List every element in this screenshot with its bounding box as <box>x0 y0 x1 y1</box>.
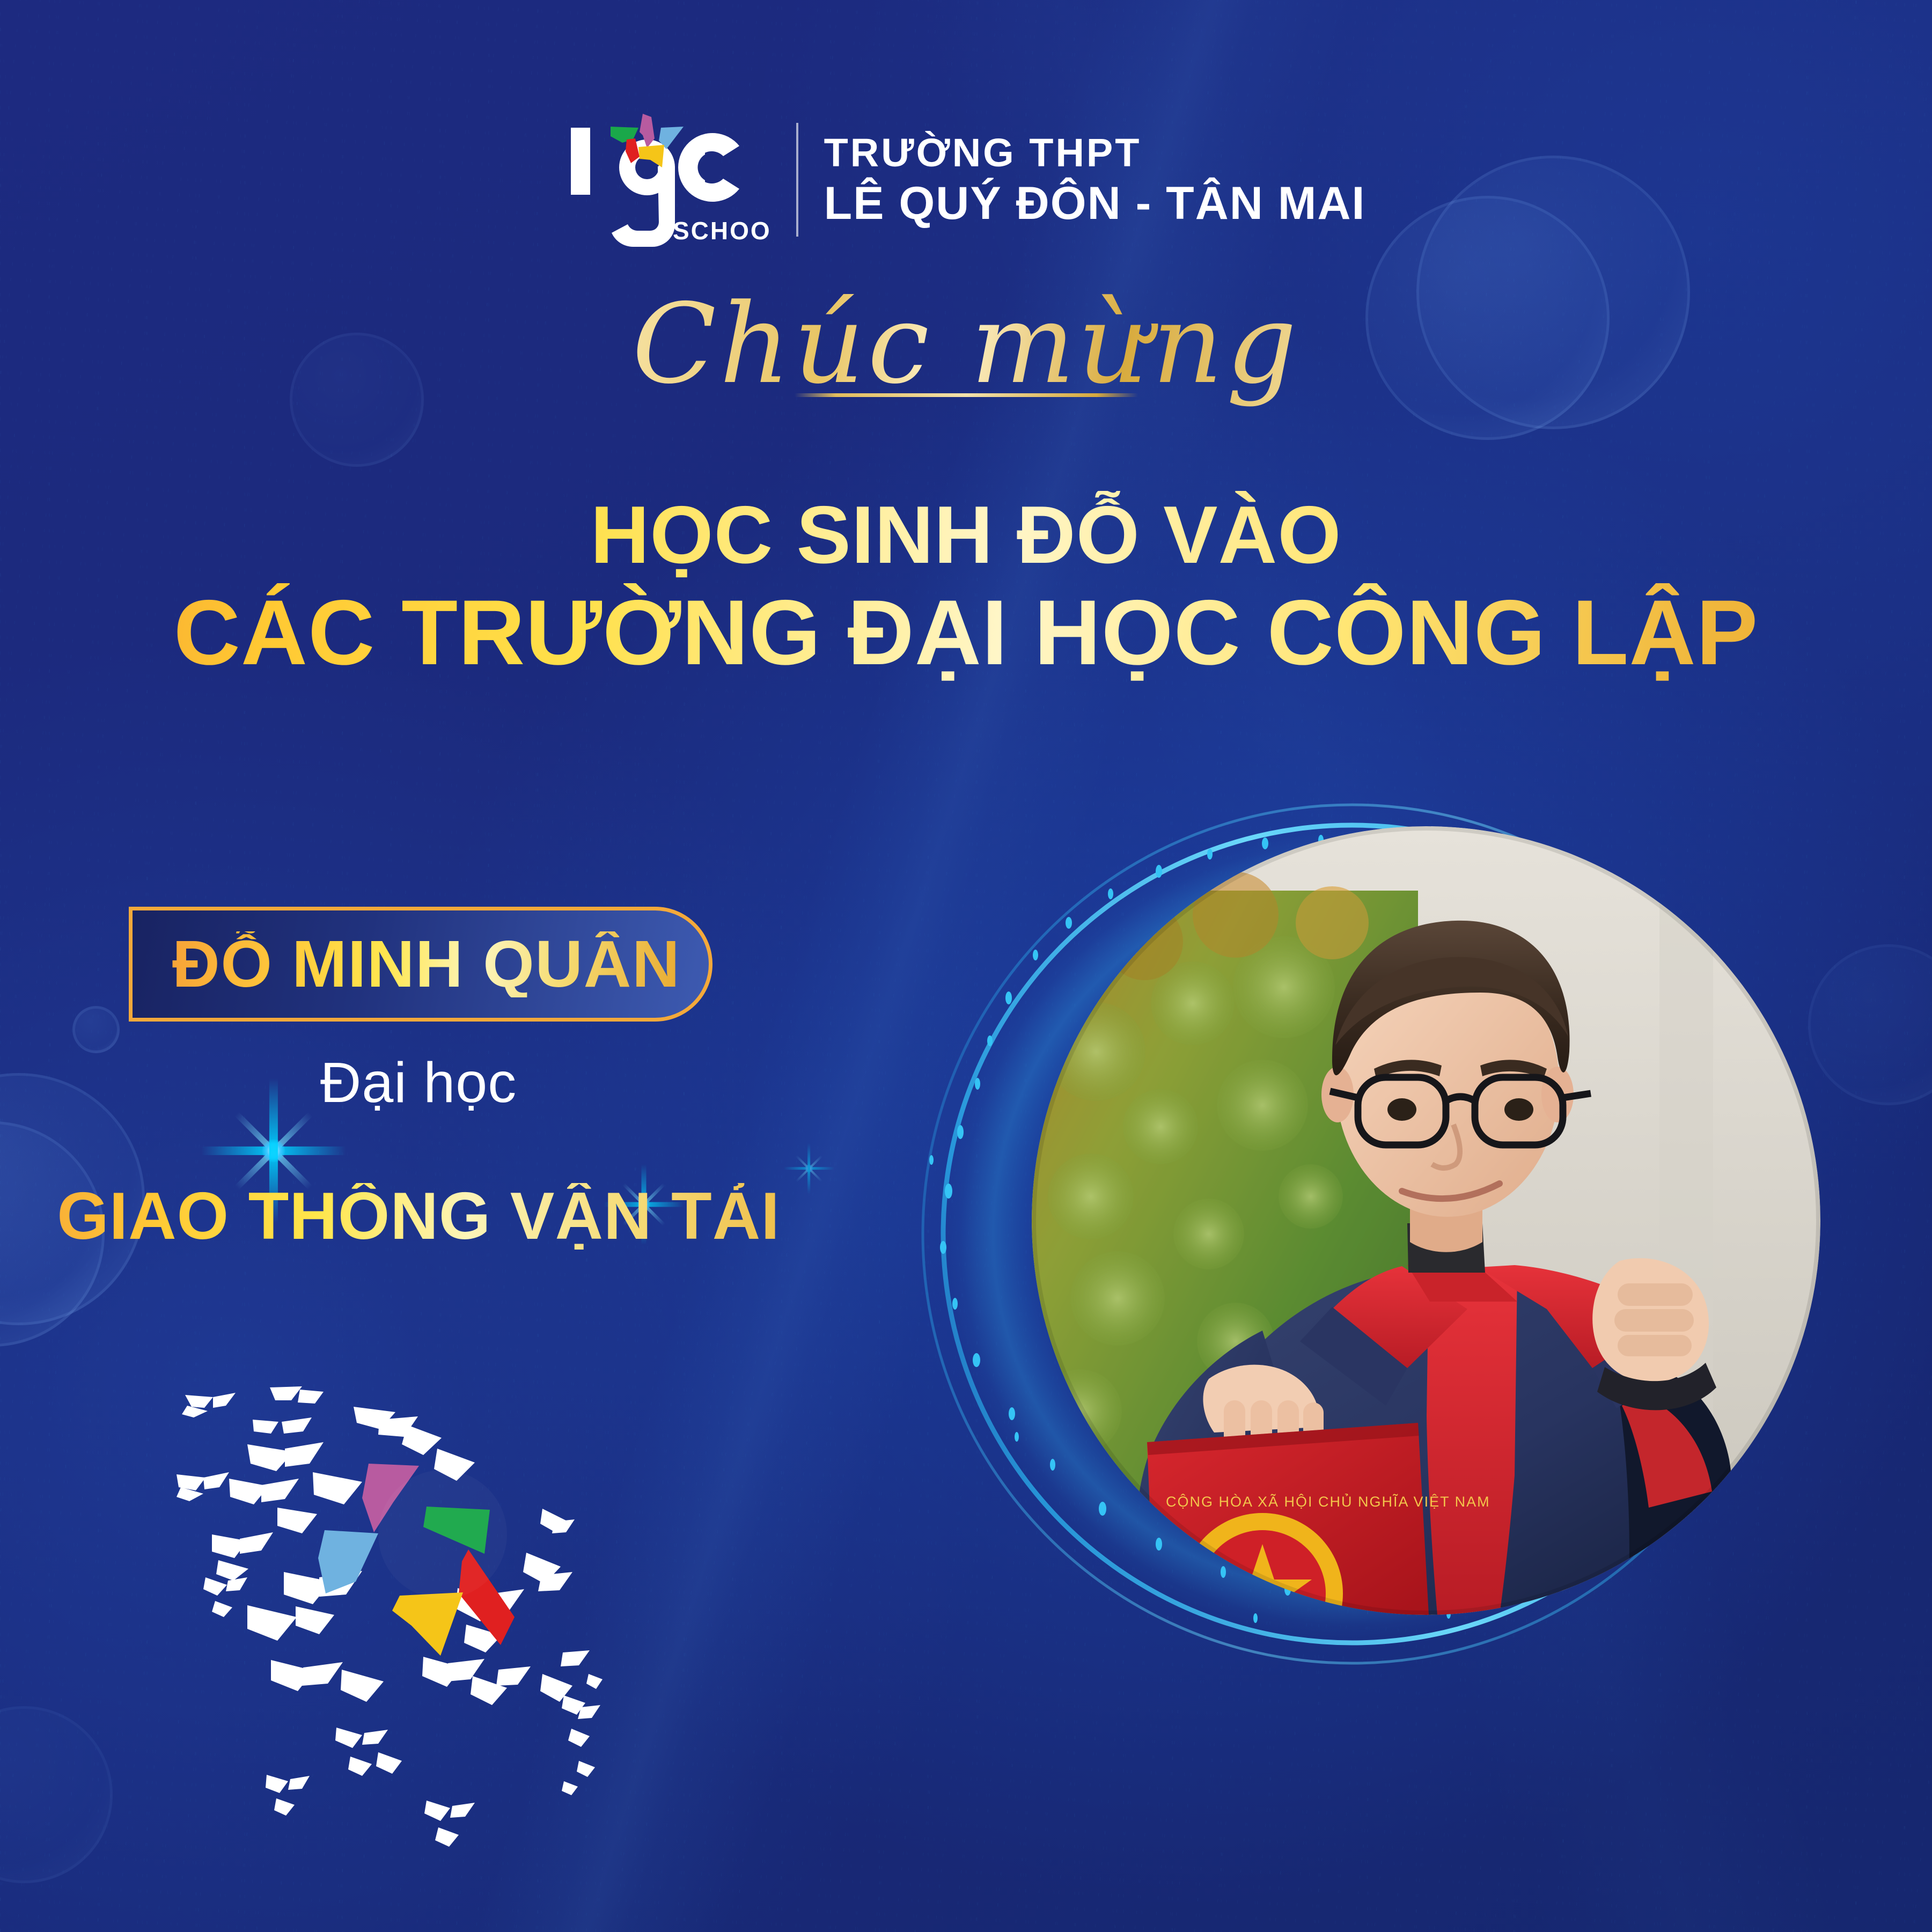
university-level: Đại học <box>0 1054 837 1111</box>
university-name: GIAO THÔNG VẬN TẢI <box>0 1183 837 1250</box>
student-photo: CỘNG HÒA XÃ HỘI CHỦ NGHĨA VIỆT NAM <box>1032 826 1820 1615</box>
student-name: ĐỖ MINH QUÂN <box>172 931 680 997</box>
globe-star-green <box>423 1507 490 1554</box>
script-greeting-block: Chúc mừng <box>0 290 1932 397</box>
igc-logo-icon: SCHOOL <box>567 113 770 247</box>
star-globe-decoration <box>142 1373 647 1883</box>
script-greeting-text: Chúc mừng <box>616 290 1316 418</box>
globe-star-red <box>459 1549 515 1645</box>
svg-text:SCHOOL: SCHOOL <box>673 217 770 245</box>
student-name-badge: ĐỖ MINH QUÂN <box>129 907 712 1022</box>
svg-text:CỘNG HÒA XÃ HỘI CHỦ NGHĨA VIỆT: CỘNG HÒA XÃ HỘI CHỦ NGHĨA VIỆT NAM <box>1166 1493 1490 1510</box>
header-divider <box>796 123 798 237</box>
student-photo-illustration: CỘNG HÒA XÃ HỘI CHỦ NGHĨA VIỆT NAM <box>1032 826 1820 1615</box>
bokeh-circle-bottom-left <box>0 1706 113 1883</box>
headline-line1: HỌC SINH ĐỖ VÀO <box>0 491 1932 579</box>
globe-star-yellow <box>392 1592 463 1656</box>
poster-header: SCHOOL TRƯỜNG THPT LÊ QUÝ ĐÔN - TÂN MAI <box>0 113 1932 247</box>
school-name-line1: TRƯỜNG THPT <box>824 133 1366 173</box>
school-name-block: TRƯỜNG THPT LÊ QUÝ ĐÔN - TÂN MAI <box>824 133 1366 226</box>
headline-block: HỌC SINH ĐỖ VÀO CÁC TRƯỜNG ĐẠI HỌC CÔNG … <box>0 491 1932 683</box>
bokeh-circle-far-right <box>1808 944 1932 1105</box>
congratulation-poster: SCHOOL TRƯỜNG THPT LÊ QUÝ ĐÔN - TÂN MAI … <box>0 0 1932 1932</box>
globe-star-blue <box>318 1530 378 1593</box>
bokeh-circle-left-tiny <box>72 1006 120 1053</box>
globe-star-magenta <box>362 1464 419 1532</box>
igc-school-logo: SCHOOL <box>567 113 770 247</box>
school-name-line2: LÊ QUÝ ĐÔN - TÂN MAI <box>824 180 1366 226</box>
headline-line2: CÁC TRƯỜNG ĐẠI HỌC CÔNG LẬP <box>0 583 1932 683</box>
